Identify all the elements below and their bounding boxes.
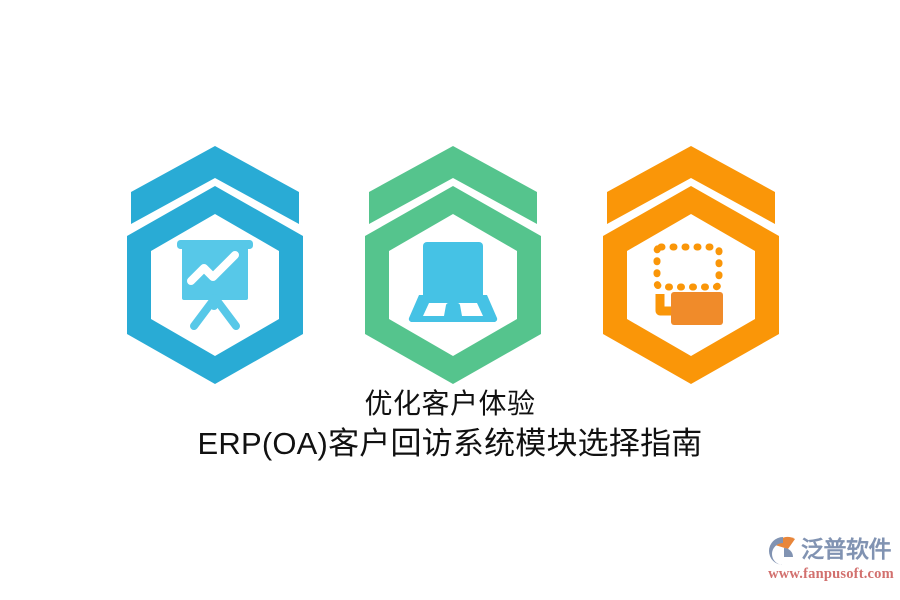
- badge-row: [0, 140, 900, 390]
- poster-canvas: 优化客户体验 ERP(OA)客户回访系统模块选择指南 泛普软件 www.fanp…: [0, 0, 900, 600]
- watermark: 泛普软件 www.fanpusoft.com: [768, 533, 894, 589]
- badge-selection-crop[interactable]: [598, 140, 784, 385]
- watermark-brand-row: 泛普软件: [768, 533, 894, 566]
- title-line-1: 优化客户体验: [0, 388, 900, 420]
- selection-crop-icon: [657, 247, 723, 325]
- page-title: 优化客户体验 ERP(OA)客户回访系统模块选择指南: [0, 388, 900, 462]
- title-line-2: ERP(OA)客户回访系统模块选择指南: [0, 426, 900, 462]
- laptop-icon: [409, 242, 497, 322]
- watermark-url: www.fanpusoft.com: [768, 567, 894, 582]
- badge-presentation-chart[interactable]: [122, 140, 308, 385]
- watermark-brand-name: 泛普软件: [801, 538, 891, 561]
- fanpu-swoosh-logo-icon: [768, 535, 798, 565]
- presentation-chart-icon: [177, 240, 253, 326]
- badge-laptop[interactable]: [360, 140, 546, 385]
